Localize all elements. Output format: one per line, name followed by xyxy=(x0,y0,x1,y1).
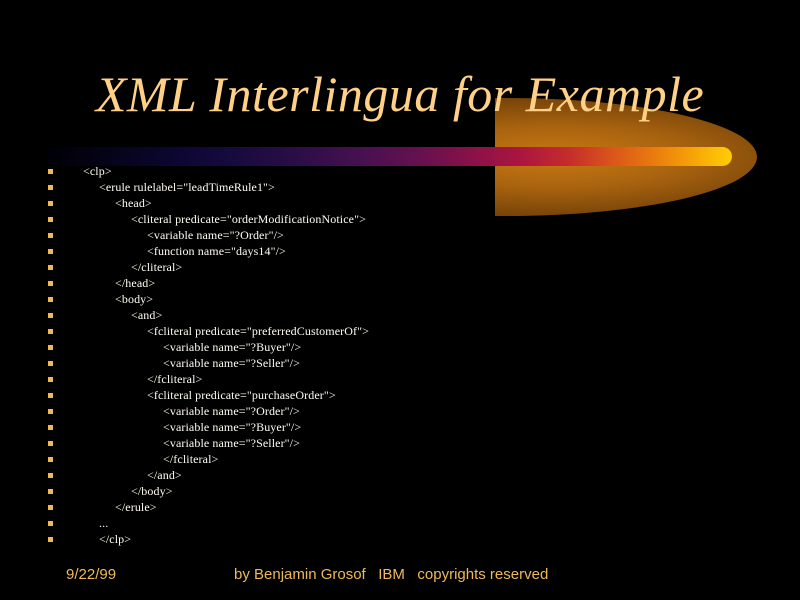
bullet-square-icon xyxy=(48,425,53,430)
bullet-square-icon xyxy=(48,297,53,302)
code-line: <function name="days14"/> xyxy=(0,243,800,259)
slide-body-bullet-list: <clp><erule rulelabel="leadTimeRule1"><h… xyxy=(0,163,800,547)
code-line: <variable name="?Buyer"/> xyxy=(0,419,800,435)
code-line: <cliteral predicate="orderModificationNo… xyxy=(0,211,800,227)
code-line: </fcliteral> xyxy=(0,451,800,467)
code-line: <head> xyxy=(0,195,800,211)
footer-date: 9/22/99 xyxy=(66,563,116,587)
bullet-square-icon xyxy=(48,265,53,270)
bullet-square-icon xyxy=(48,473,53,478)
code-line: </fcliteral> xyxy=(0,371,800,387)
footer-credit: by Benjamin Grosof IBM copyrights reserv… xyxy=(234,563,548,587)
code-line: </erule> xyxy=(0,499,800,515)
bullet-square-icon xyxy=(48,361,53,366)
bullet-square-icon xyxy=(48,409,53,414)
code-line: </cliteral> xyxy=(0,259,800,275)
bullet-square-icon xyxy=(48,185,53,190)
bullet-square-icon xyxy=(48,457,53,462)
code-line: <fcliteral predicate="preferredCustomerO… xyxy=(0,323,800,339)
slide-title: XML Interlingua for Example xyxy=(0,66,800,122)
bullet-square-icon xyxy=(48,505,53,510)
code-line: </head> xyxy=(0,275,800,291)
bullet-square-icon xyxy=(48,169,53,174)
code-line-text: </head> xyxy=(115,275,155,291)
code-line: <variable name="?Seller"/> xyxy=(0,355,800,371)
bullet-square-icon xyxy=(48,441,53,446)
bullet-square-icon xyxy=(48,537,53,542)
code-line-text: </fcliteral> xyxy=(147,371,202,387)
code-line-text: <cliteral predicate="orderModificationNo… xyxy=(131,211,366,227)
code-line-text: <erule rulelabel="leadTimeRule1"> xyxy=(99,179,275,195)
bullet-square-icon xyxy=(48,489,53,494)
code-line-text: <variable name="?Seller"/> xyxy=(163,435,300,451)
code-line-text: <fcliteral predicate="purchaseOrder"> xyxy=(147,387,336,403)
code-line-text: </fcliteral> xyxy=(163,451,218,467)
code-line-text: </and> xyxy=(147,467,182,483)
slide-footer: 9/22/99 by Benjamin Grosof IBM copyright… xyxy=(0,563,800,587)
code-line: <body> xyxy=(0,291,800,307)
code-line-text: </body> xyxy=(131,483,173,499)
bullet-square-icon xyxy=(48,521,53,526)
bullet-square-icon xyxy=(48,201,53,206)
bullet-square-icon xyxy=(48,249,53,254)
code-line-text: <variable name="?Seller"/> xyxy=(163,355,300,371)
code-line: <and> xyxy=(0,307,800,323)
code-line: <fcliteral predicate="purchaseOrder"> xyxy=(0,387,800,403)
code-line: </body> xyxy=(0,483,800,499)
code-line-text: <fcliteral predicate="preferredCustomerO… xyxy=(147,323,369,339)
code-line-text: <variable name="?Buyer"/> xyxy=(163,339,301,355)
bullet-square-icon xyxy=(48,345,53,350)
code-line-text: <variable name="?Order"/> xyxy=(163,403,300,419)
code-line-text: <clp> xyxy=(83,163,112,179)
code-line-text: <variable name="?Order"/> xyxy=(147,227,284,243)
code-line: <variable name="?Seller"/> xyxy=(0,435,800,451)
code-line: ... xyxy=(0,515,800,531)
code-line: <variable name="?Order"/> xyxy=(0,403,800,419)
code-line-text: <variable name="?Buyer"/> xyxy=(163,419,301,435)
bullet-square-icon xyxy=(48,281,53,286)
bullet-square-icon xyxy=(48,393,53,398)
code-line-text: </clp> xyxy=(99,531,131,547)
code-line: <erule rulelabel="leadTimeRule1"> xyxy=(0,179,800,195)
code-line: </and> xyxy=(0,467,800,483)
code-line-text: </erule> xyxy=(115,499,157,515)
code-line-text: </cliteral> xyxy=(131,259,182,275)
code-line-text: <body> xyxy=(115,291,153,307)
code-line: <variable name="?Buyer"/> xyxy=(0,339,800,355)
code-line-text: <function name="days14"/> xyxy=(147,243,286,259)
bullet-square-icon xyxy=(48,233,53,238)
code-line: <clp> xyxy=(0,163,800,179)
code-line-text: <head> xyxy=(115,195,152,211)
bullet-square-icon xyxy=(48,217,53,222)
code-line-text: <and> xyxy=(131,307,162,323)
code-line-text: ... xyxy=(99,515,108,531)
presentation-slide: XML Interlingua for Example <clp><erule … xyxy=(0,0,800,600)
bullet-square-icon xyxy=(48,329,53,334)
bullet-square-icon xyxy=(48,313,53,318)
code-line: </clp> xyxy=(0,531,800,547)
bullet-square-icon xyxy=(48,377,53,382)
code-line: <variable name="?Order"/> xyxy=(0,227,800,243)
